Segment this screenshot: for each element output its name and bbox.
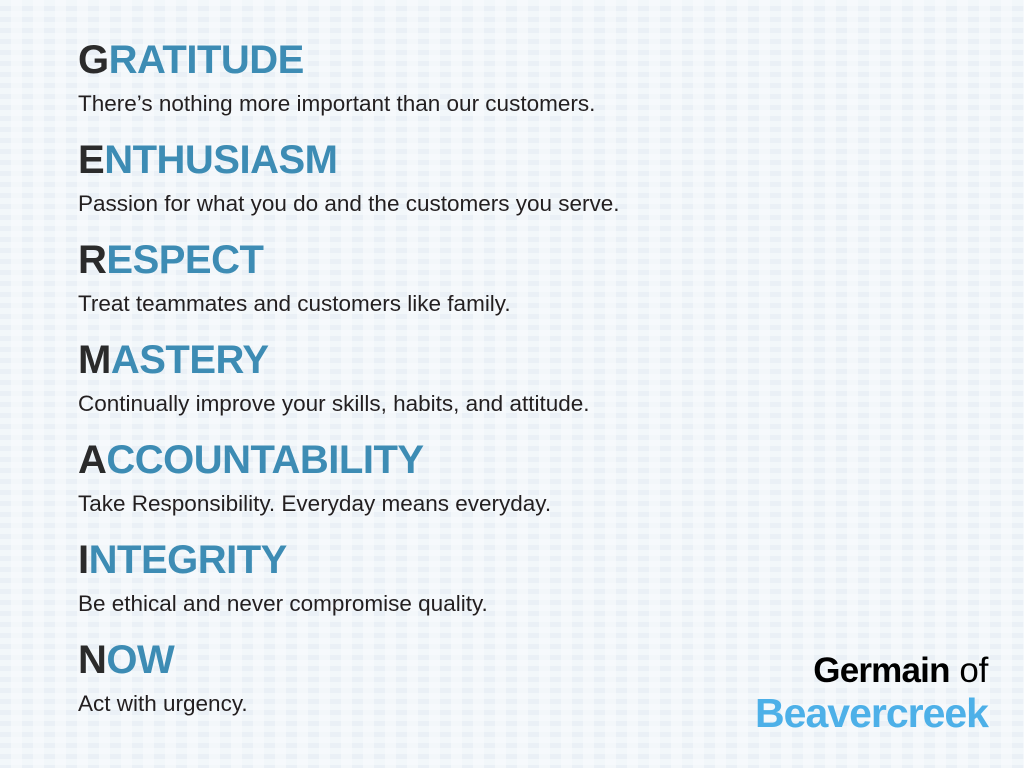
value-heading-respect: RESPECT: [78, 240, 511, 280]
value-block-gratitude: GRATITUDE There’s nothing more important…: [78, 40, 595, 116]
value-description-mastery: Continually improve your skills, habits,…: [78, 393, 590, 416]
value-heading-integrity: INTEGRITY: [78, 540, 488, 580]
value-initial-letter: A: [78, 438, 106, 482]
value-initial-letter: N: [78, 638, 106, 682]
value-heading-remainder: NTHUSIASM: [104, 138, 337, 182]
value-initial-letter: I: [78, 538, 89, 582]
value-description-integrity: Be ethical and never compromise quality.: [78, 593, 488, 616]
value-block-enthusiasm: ENTHUSIASM Passion for what you do and t…: [78, 140, 620, 216]
logo-line-germain-of: Germain of: [755, 653, 988, 688]
value-description-respect: Treat teammates and customers like famil…: [78, 293, 511, 316]
logo-brand-text: Germain: [813, 651, 949, 690]
value-initial-letter: G: [78, 38, 109, 82]
dealership-logo: Germain of Beavercreek: [755, 653, 988, 734]
value-block-mastery: MASTERY Continually improve your skills,…: [78, 340, 590, 416]
value-block-now: NOW Act with urgency.: [78, 640, 248, 716]
value-description-enthusiasm: Passion for what you do and the customer…: [78, 193, 620, 216]
value-heading-remainder: ESPECT: [106, 238, 263, 282]
value-heading-mastery: MASTERY: [78, 340, 590, 380]
value-initial-letter: R: [78, 238, 106, 282]
value-initial-letter: M: [78, 338, 111, 382]
value-heading-enthusiasm: ENTHUSIASM: [78, 140, 620, 180]
value-block-respect: RESPECT Treat teammates and customers li…: [78, 240, 511, 316]
value-heading-remainder: CCOUNTABILITY: [106, 438, 423, 482]
value-block-integrity: INTEGRITY Be ethical and never compromis…: [78, 540, 488, 616]
value-heading-now: NOW: [78, 640, 248, 680]
value-initial-letter: E: [78, 138, 104, 182]
value-heading-remainder: OW: [106, 638, 174, 682]
value-heading-remainder: ASTERY: [111, 338, 269, 382]
logo-connector-text: of: [959, 651, 988, 690]
value-heading-gratitude: GRATITUDE: [78, 40, 595, 80]
value-heading-accountability: ACCOUNTABILITY: [78, 440, 551, 480]
value-description-gratitude: There’s nothing more important than our …: [78, 93, 595, 116]
value-block-accountability: ACCOUNTABILITY Take Responsibility. Ever…: [78, 440, 551, 516]
value-heading-remainder: NTEGRITY: [89, 538, 287, 582]
logo-location-text: Beavercreek: [755, 693, 988, 734]
value-heading-remainder: RATITUDE: [109, 38, 304, 82]
value-description-accountability: Take Responsibility. Everyday means ever…: [78, 493, 551, 516]
value-description-now: Act with urgency.: [78, 693, 248, 716]
